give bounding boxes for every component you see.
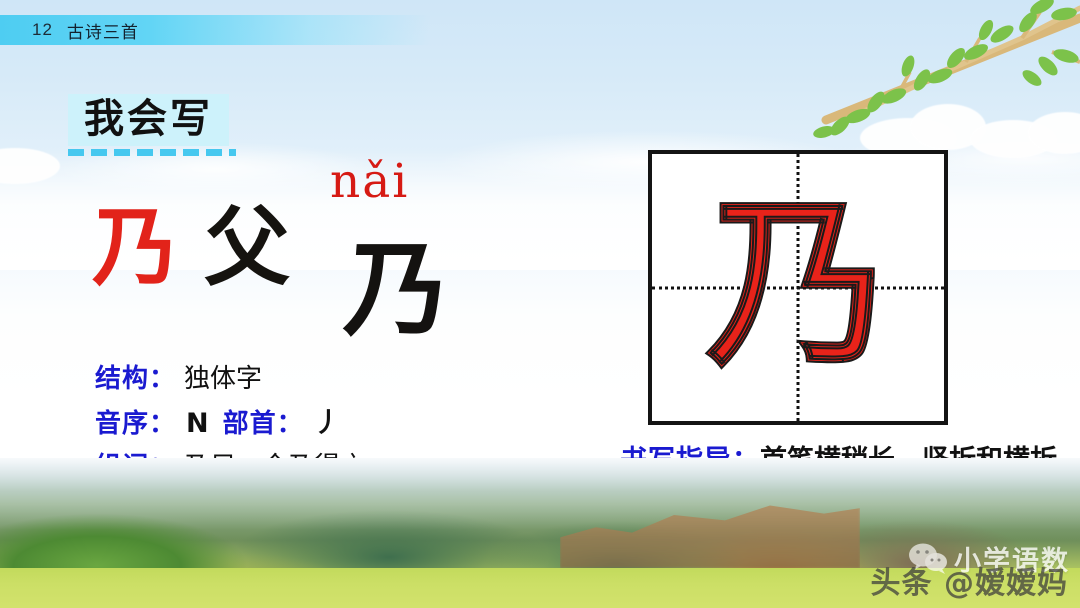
section-tag-label: 我会写 — [68, 94, 229, 146]
big-character-display: 乃 — [341, 238, 452, 342]
word-char-partner: 父 — [204, 205, 290, 291]
info-row-structure: 结构： 独体字 — [95, 358, 615, 395]
author-handle: 头条 @嫒嫒妈 — [871, 558, 1068, 602]
author-watermark: 头条 @嫒嫒妈 — [871, 558, 1068, 602]
word-example: 乃 父 — [92, 205, 290, 291]
slide-canvas: 12 古诗三首 我会写 乃 父 nǎi 乃 结构： 独体字 音序： N 部首： … — [0, 0, 1080, 608]
section-tag: 我会写 — [68, 94, 236, 156]
lesson-title: 古诗三首 — [67, 18, 139, 43]
lesson-number: 12 — [32, 20, 53, 40]
tree-branch-decoration — [790, 0, 1080, 150]
initial-value: N — [186, 408, 209, 439]
structure-label: 结构： — [95, 358, 176, 395]
grid-character: 乃 — [652, 191, 944, 376]
initial-label: 音序： — [95, 403, 176, 440]
radical-value: 丿 — [314, 401, 341, 440]
structure-value: 独体字 — [184, 358, 262, 395]
lesson-header-bar: 12 古诗三首 — [0, 15, 430, 45]
tianzige-grid-box: 乃 — [648, 150, 948, 425]
info-row-initial-radical: 音序： N 部首： 丿 — [95, 401, 615, 440]
word-char-target: 乃 — [92, 205, 178, 291]
section-tag-underline — [68, 149, 236, 156]
radical-label: 部首： — [223, 403, 304, 440]
pinyin-label: nǎi — [330, 158, 409, 205]
